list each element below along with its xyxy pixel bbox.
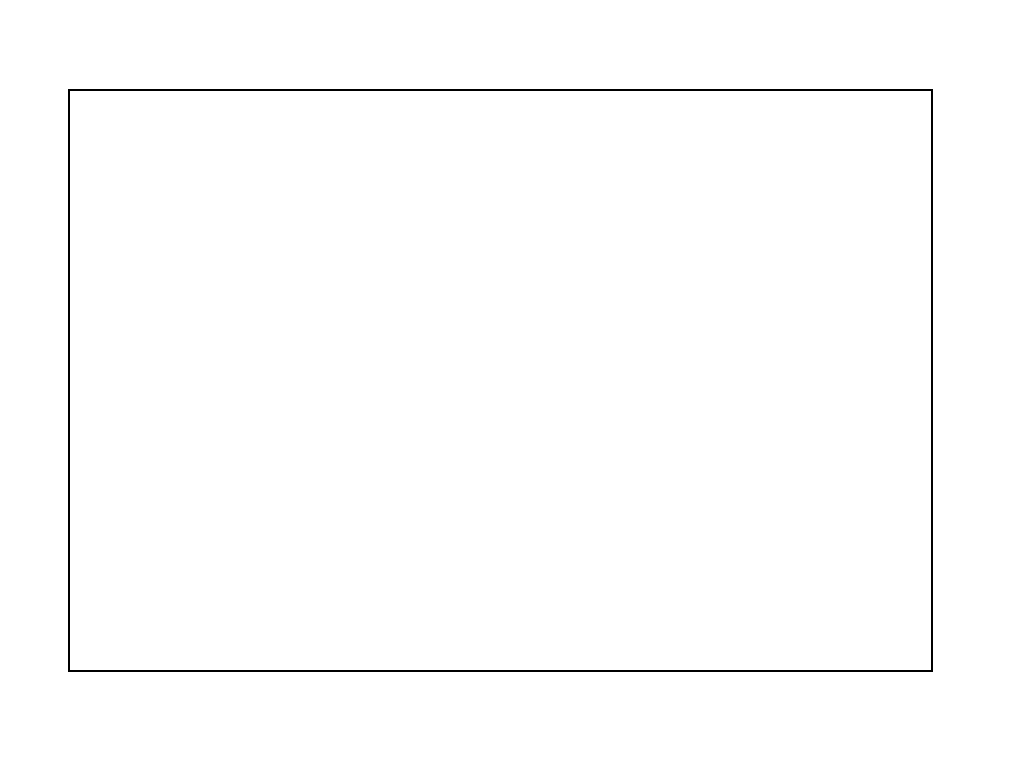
- colorbar-swatches: [941, 293, 985, 473]
- heatmap-plot-area[interactable]: [68, 89, 933, 672]
- colorbar-legend[interactable]: [941, 293, 1021, 473]
- heatmap-canvas: [70, 91, 931, 670]
